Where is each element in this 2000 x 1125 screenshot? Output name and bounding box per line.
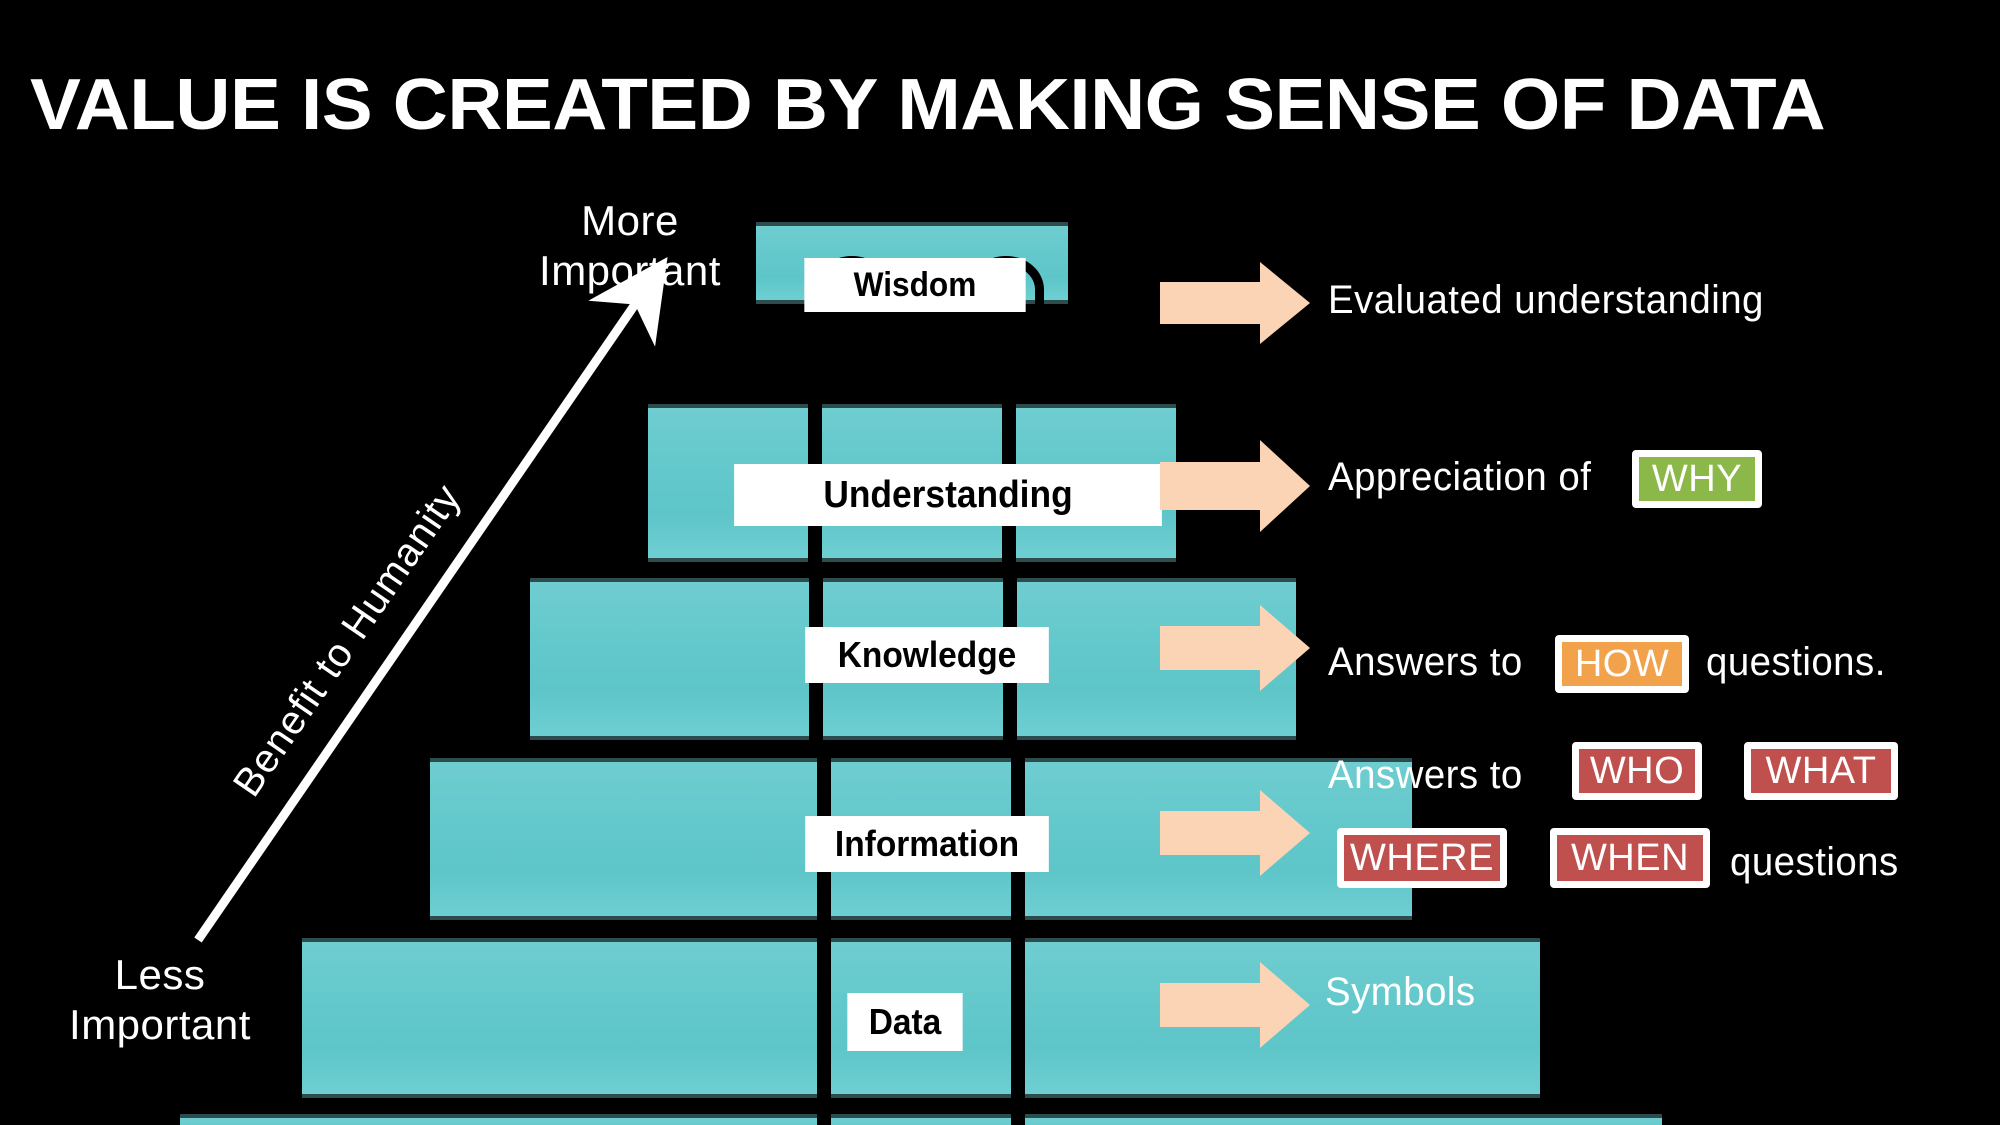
tier-plate-knowledge: Knowledge [805,627,1049,683]
tier-plate-information: Information [805,816,1049,872]
row-description-understanding: Appreciation of [1328,455,1591,500]
badge-label: WHY [1652,458,1742,501]
tier-plate-understanding: Understanding [734,464,1162,526]
mortar-joint [1011,1114,1025,1125]
tier-plate-data: Data [847,993,962,1051]
row-description-text: Answers to [1328,640,1523,684]
mortar-joint [1011,938,1025,1098]
brick [530,578,809,740]
badge-why[interactable]: WHY [1632,450,1762,508]
block-arrow-right-icon-understanding [1160,440,1310,532]
mortar-joint [817,1114,831,1125]
badge-what[interactable]: WHAT [1744,742,1898,800]
block-arrow-right-icon-data [1160,962,1310,1048]
tier-plate-label: Wisdom [854,266,977,305]
tier-plate-label: Understanding [823,474,1072,517]
brick [831,1114,1011,1125]
badge-label: WHAT [1765,750,1876,793]
badge-label: WHEN [1571,837,1689,880]
row-description-information-suffix: questions [1730,840,1899,885]
badge-who[interactable]: WHO [1572,742,1702,800]
row-description-text: Answers to [1328,753,1523,797]
row-description-knowledge: Answers to [1328,640,1523,685]
tier-plate-label: Knowledge [838,634,1017,676]
brick [430,758,817,920]
tier-plate-label: Information [835,823,1019,865]
mortar-joint [817,938,831,1098]
tier-plate-wisdom: Wisdom [804,258,1025,312]
row-description-text: Evaluated understanding [1328,278,1764,322]
row-description-text: Symbols [1325,970,1476,1014]
brick [180,1114,817,1125]
row-description-text: Appreciation of [1328,455,1591,499]
brick [302,938,817,1098]
axis-label-less-important: Less Important [40,950,280,1049]
row-description-text: questions [1730,840,1899,884]
brick [1025,1114,1662,1125]
badge-label: WHERE [1350,837,1494,880]
brick-row-partial-bottom [180,1114,1840,1125]
badge-when[interactable]: WHEN [1550,828,1710,888]
row-description-wisdom: Evaluated understanding [1328,278,1764,323]
axis-label-more-important: More Important [520,196,740,295]
row-description-data: Symbols [1325,970,1476,1015]
badge-label: HOW [1575,643,1669,686]
slide-canvas: VALUE IS CREATED BY MAKING SENSE OF DATA [0,0,2000,1125]
row-description-knowledge-suffix: questions. [1706,640,1886,685]
badge-how[interactable]: HOW [1555,635,1689,693]
block-arrow-right-icon-information [1160,790,1310,876]
block-arrow-right-icon-wisdom [1160,262,1310,344]
block-arrow-right-icon-knowledge [1160,605,1310,691]
dikw-pyramid [0,0,2000,1125]
badge-where[interactable]: WHERE [1337,828,1507,888]
tier-plate-label: Data [869,1001,942,1043]
row-description-information: Answers to [1328,753,1523,798]
row-description-text: questions. [1706,640,1886,684]
badge-label: WHO [1590,750,1684,793]
